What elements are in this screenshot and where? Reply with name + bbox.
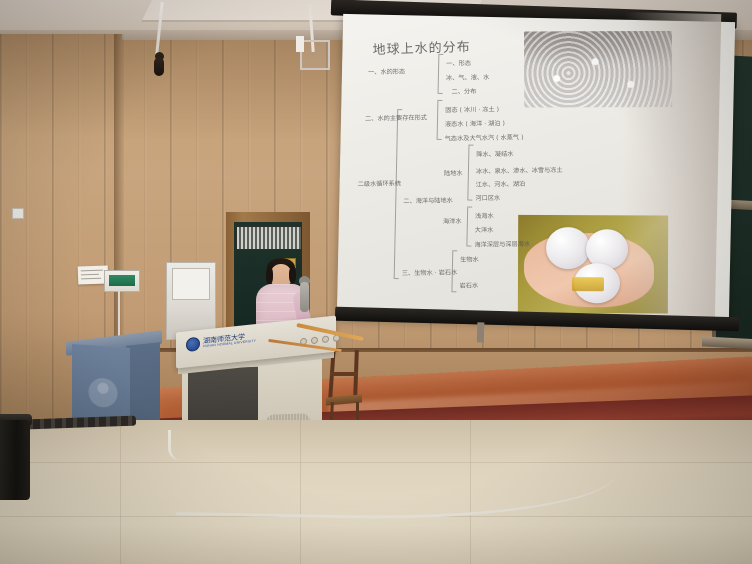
diagram-node: 二、水的主要存在形式 — [365, 112, 427, 122]
diagram-node: 河口区水 — [475, 193, 500, 202]
diagram-node: 江水、河水、湖泊 — [476, 179, 526, 189]
presenter-hair-side — [289, 267, 296, 283]
slide-title: 地球上水的分布 — [372, 36, 471, 58]
lecture-hall-photo: 地球上水的分布 一、水的形态一、形态冰、气、液、水二、分布二、水的主要存在形式固… — [0, 0, 752, 564]
podium-emblem — [86, 373, 120, 409]
diagram-node: 生物水 — [460, 254, 479, 263]
screen-shaded-edge — [619, 12, 722, 326]
ceiling-speaker — [154, 58, 164, 76]
diagram-node: 一、形态 — [446, 58, 471, 67]
power-cable — [168, 430, 197, 460]
diagram-node: 岩石水 — [459, 280, 478, 289]
diagram-node: 海洋水 — [443, 216, 462, 225]
diagram-bracket — [437, 100, 439, 140]
university-crest-icon — [186, 337, 200, 352]
screen-weight-bar — [477, 322, 485, 342]
diagram-node: 液态水 ( 海洋 · 湖泊 ) — [445, 118, 505, 128]
floor-tile-seams — [0, 420, 752, 564]
bracket-junction-box — [296, 36, 304, 52]
diagram-bracket — [438, 54, 440, 94]
diagram-node: 大洋水 — [475, 225, 494, 234]
diagram-node: 冰水、泉水、渗水、冰雪与冻土 — [476, 165, 563, 176]
diagram-node: 浅海水 — [475, 211, 494, 220]
wall-control-panel[interactable] — [104, 270, 140, 292]
trash-bin — [0, 420, 30, 500]
diagram-bracket — [466, 207, 468, 247]
diagram-node: 三、生物水 · 岩石水 — [402, 267, 458, 277]
diagram-bracket — [394, 109, 399, 279]
light-switch[interactable] — [12, 208, 24, 219]
diagram-bracket — [467, 145, 469, 201]
projection-screen: 地球上水的分布 一、水的形态一、形态冰、气、液、水二、分布二、水的主要存在形式固… — [322, 2, 742, 342]
tile-floor — [0, 420, 752, 564]
diagram-node: 陆地水 — [444, 168, 463, 177]
chair-rail — [330, 372, 358, 376]
diagram-node: 二、海洋与陆地水 — [403, 195, 453, 205]
diagram-node: 二级水循环系统 — [358, 178, 401, 188]
slide-tree-diagram: 一、水的形态一、形态冰、气、液、水二、分布二、水的主要存在形式固态 ( 冰川 ·… — [355, 62, 660, 318]
electrical-panel — [236, 226, 302, 250]
diagram-node: 气态水及大气水汽 ( 水蒸气 ) — [445, 132, 524, 142]
diagram-node: 降水、凝结水 — [476, 149, 513, 159]
diagram-node: 一、水的形态 — [368, 66, 405, 76]
diagram-node: 二、分布 — [452, 86, 477, 95]
diagram-node: 固态 ( 冰川 · 冻土 ) — [445, 104, 499, 114]
cabinet-panel — [172, 268, 210, 300]
presenter-hair-side — [266, 267, 273, 284]
diagram-node: 海洋深层与深层海水 — [474, 239, 530, 249]
handheld-microphone — [300, 282, 309, 312]
diagram-node: 冰、气、液、水 — [446, 72, 489, 82]
